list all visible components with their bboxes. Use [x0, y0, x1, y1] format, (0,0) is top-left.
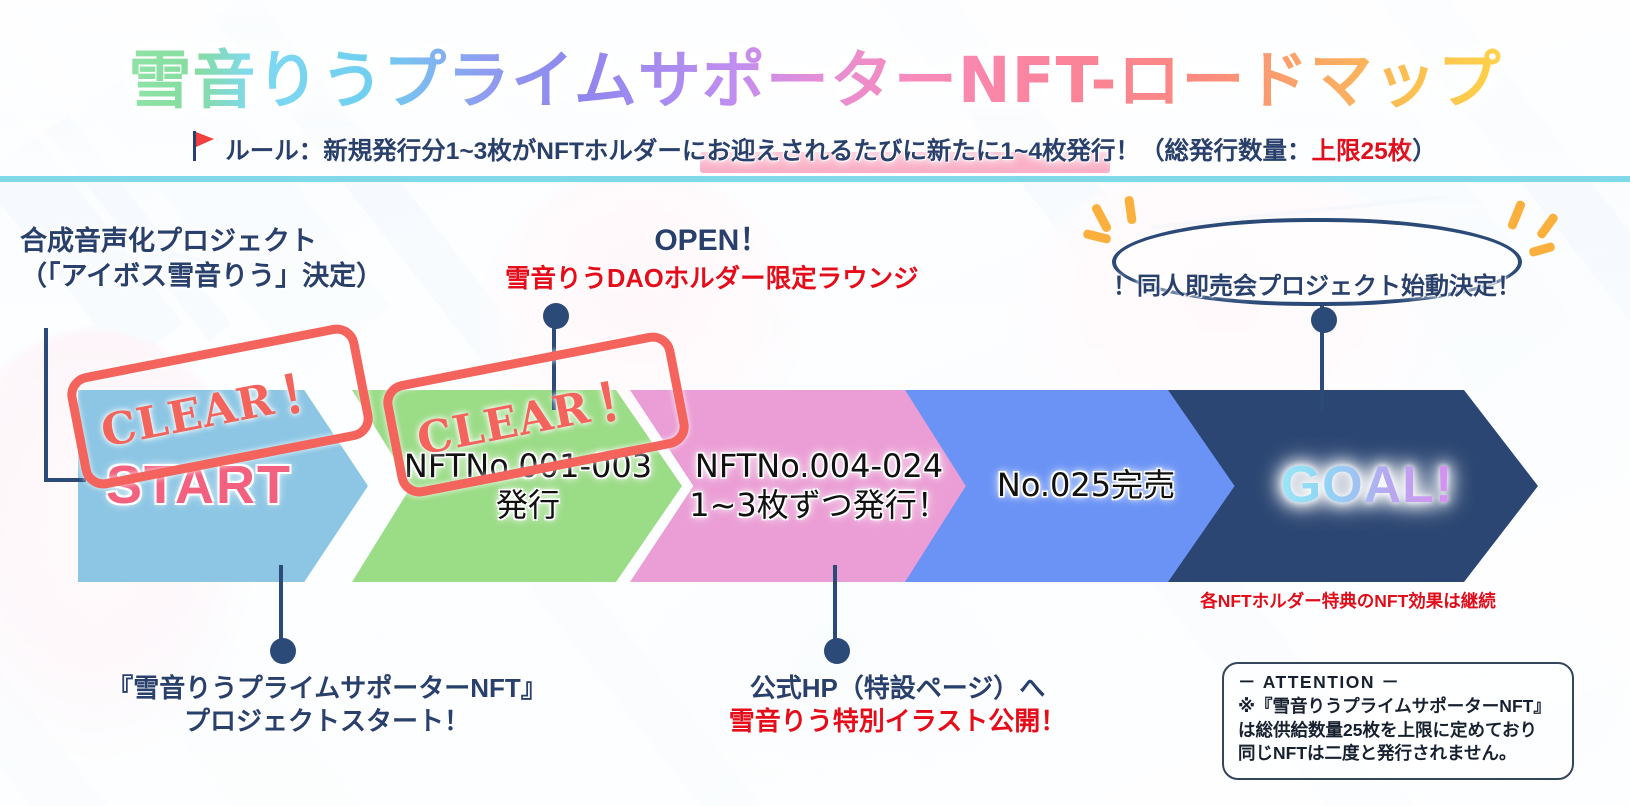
page-title-text: 雪音りうプライムサポーターNFT-ロードマップ [128, 44, 1501, 117]
connector-dot-open [543, 303, 569, 329]
clear-stamp-label: CLEAR [413, 382, 595, 465]
voice-project-line2: （「アイボス雪音りう」決定） [20, 259, 383, 294]
page-title: 雪音りうプライムサポーターNFT-ロードマップ [0, 30, 1630, 121]
attention-line1: ※『雪音りうプライムサポーターNFT』 [1238, 695, 1562, 718]
rule-suffix: ） [1412, 138, 1437, 165]
open-title: OPEN！ [505, 222, 919, 260]
spark-icon [1124, 196, 1137, 225]
voice-project-line1: 合成音声化プロジェクト [20, 224, 383, 259]
roadmap-step-goal[interactable]: GOAL! [1168, 390, 1538, 582]
connector-dot-bottom-start [270, 638, 296, 664]
annotation-open-lounge: OPEN！ 雪音りうDAOホルダー限定ラウンジ [505, 222, 919, 296]
rule-highlight: 上限25枚 [1311, 138, 1412, 165]
attention-heading: － ATTENTION － [1238, 671, 1562, 694]
goal-text: GOAL! [1281, 456, 1454, 514]
spark-icon [1528, 242, 1555, 258]
event-line2: ！同人即売会プロジェクト始動決定！ [1113, 266, 1521, 301]
annotation-official-hp: 公式HP（特設ページ）へ 雪音りう特別イラスト公開！ [700, 672, 1095, 739]
annotation-project-start: 『雪音りうプライムサポーターNFT』 プロジェクトスタート！ [82, 672, 572, 739]
event-announcement-bubble: 雪音りうオンリーイベント ！同人即売会プロジェクト始動決定！ [1112, 218, 1522, 306]
official-hp-line1: 公式HP（特設ページ）へ [700, 672, 1095, 705]
clear-stamp-label: CLEAR [97, 374, 279, 457]
event-line1: 雪音りうオンリーイベント [1149, 224, 1485, 264]
attention-line3: 同じNFTは二度と発行されません。 [1238, 742, 1562, 765]
arrow-label-goal: GOAL! [1168, 454, 1538, 517]
open-subtitle: 雪音りうDAOホルダー限定ラウンジ [505, 263, 919, 296]
attention-line2: は総供給数量25枚を上限に定めており [1238, 719, 1562, 742]
attention-box: － ATTENTION － ※『雪音りうプライムサポーターNFT』 は総供給数量… [1222, 662, 1574, 780]
connector-voice-horizontal [44, 478, 86, 482]
spark-icon [1536, 212, 1560, 240]
goal-note: 各NFTホルダー特典のNFT効果は継続 [1178, 588, 1518, 613]
clear-stamp-mark: ！ [274, 358, 338, 428]
rule-prefix: ルール：新規発行分1~3枚がNFTホルダーにお迎えされるたびに新たに1~4枚発行… [225, 138, 1311, 165]
annotation-voice-project: 合成音声化プロジェクト （「アイボス雪音りう」決定） [20, 224, 383, 293]
official-hp-line2: 雪音りう特別イラスト公開！ [700, 705, 1095, 738]
rule-line: ルール：新規発行分1~3枚がNFTホルダーにお迎えされるたびに新たに1~4枚発行… [0, 131, 1630, 168]
spark-icon [1507, 199, 1527, 230]
connector-voice-vertical [44, 328, 48, 480]
project-start-line2: プロジェクトスタート！ [82, 705, 572, 738]
clear-stamp-mark: ！ [590, 366, 654, 436]
connector-dot-event [1311, 307, 1337, 333]
spark-icon [1090, 203, 1112, 234]
connector-dot-bottom-hp [824, 638, 850, 664]
project-start-line1: 『雪音りうプライムサポーターNFT』 [82, 672, 572, 705]
flag-icon [193, 131, 215, 168]
